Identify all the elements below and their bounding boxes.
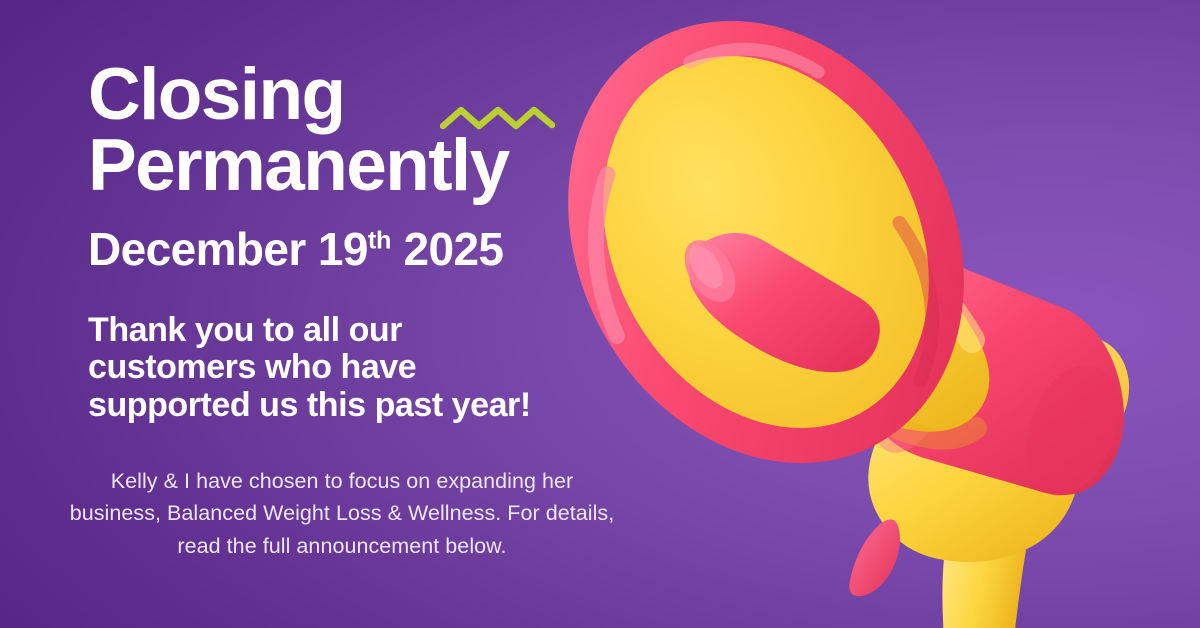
closing-date-ordinal: th	[368, 226, 391, 254]
text-column: Closing Permanently December 19th 2025 T…	[88, 60, 608, 563]
announcement-blurb: Kelly & I have chosen to focus on expand…	[66, 465, 618, 563]
page-title: Closing Permanently	[88, 60, 608, 202]
thank-you-message: Thank you to all our customers who have …	[88, 312, 608, 425]
closing-date: December 19th 2025	[88, 222, 608, 276]
megaphone-icon	[540, 0, 1200, 628]
announcement-banner: Closing Permanently December 19th 2025 T…	[0, 0, 1200, 628]
closing-date-year: 2025	[391, 223, 503, 275]
closing-date-monthday: December 19	[88, 223, 368, 275]
